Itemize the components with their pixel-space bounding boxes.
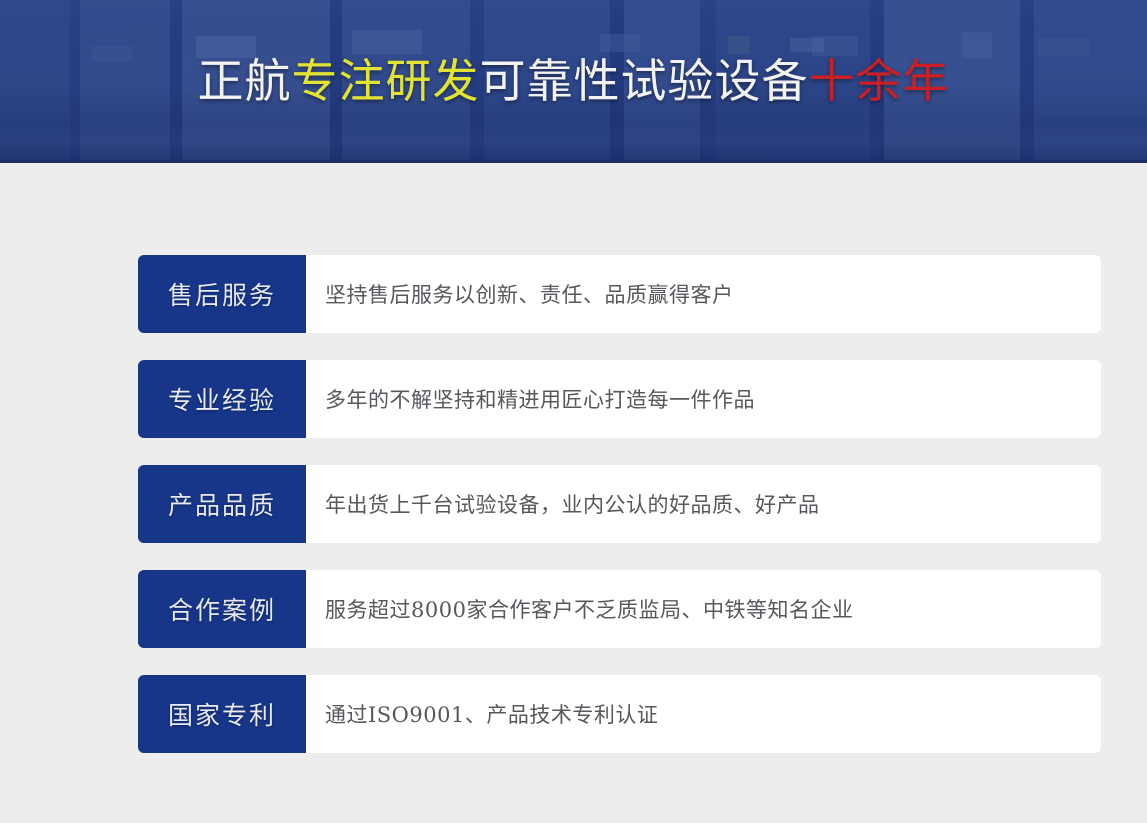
feature-tag-experience: 专业经验 xyxy=(138,360,306,438)
banner-title: 正航专注研发可靠性试验设备十余年 xyxy=(0,52,1147,110)
feature-list: 售后服务 坚持售后服务以创新、责任、品质赢得客户 专业经验 多年的不解坚持和精进… xyxy=(46,163,1101,753)
feature-desc-quality: 年出货上千台试验设备，业内公认的好品质、好产品 xyxy=(306,465,1101,543)
feature-desc-cases: 服务超过8000家合作客户不乏质监局、中铁等知名企业 xyxy=(306,570,1101,648)
feature-desc-after-sales: 坚持售后服务以创新、责任、品质赢得客户 xyxy=(306,255,1101,333)
banner-title-part-3: 可靠性试验设备 xyxy=(480,54,809,108)
list-item[interactable]: 产品品质 年出货上千台试验设备，业内公认的好品质、好产品 xyxy=(138,465,1101,543)
feature-tag-after-sales: 售后服务 xyxy=(138,255,306,333)
list-item[interactable]: 售后服务 坚持售后服务以创新、责任、品质赢得客户 xyxy=(138,255,1101,333)
list-item[interactable]: 专业经验 多年的不解坚持和精进用匠心打造每一件作品 xyxy=(138,360,1101,438)
list-item[interactable]: 合作案例 服务超过8000家合作客户不乏质监局、中铁等知名企业 xyxy=(138,570,1101,648)
banner-title-part-2: 专注研发 xyxy=(292,54,480,108)
feature-desc-patent: 通过ISO9001、产品技术专利认证 xyxy=(306,675,1101,753)
list-item[interactable]: 国家专利 通过ISO9001、产品技术专利认证 xyxy=(138,675,1101,753)
banner-title-part-1: 正航 xyxy=(198,54,292,108)
feature-tag-cases: 合作案例 xyxy=(138,570,306,648)
feature-tag-patent: 国家专利 xyxy=(138,675,306,753)
hero-banner: 正航专注研发可靠性试验设备十余年 xyxy=(0,0,1147,163)
feature-desc-experience: 多年的不解坚持和精进用匠心打造每一件作品 xyxy=(306,360,1101,438)
feature-tag-quality: 产品品质 xyxy=(138,465,306,543)
banner-title-part-4: 十余年 xyxy=(809,54,950,108)
